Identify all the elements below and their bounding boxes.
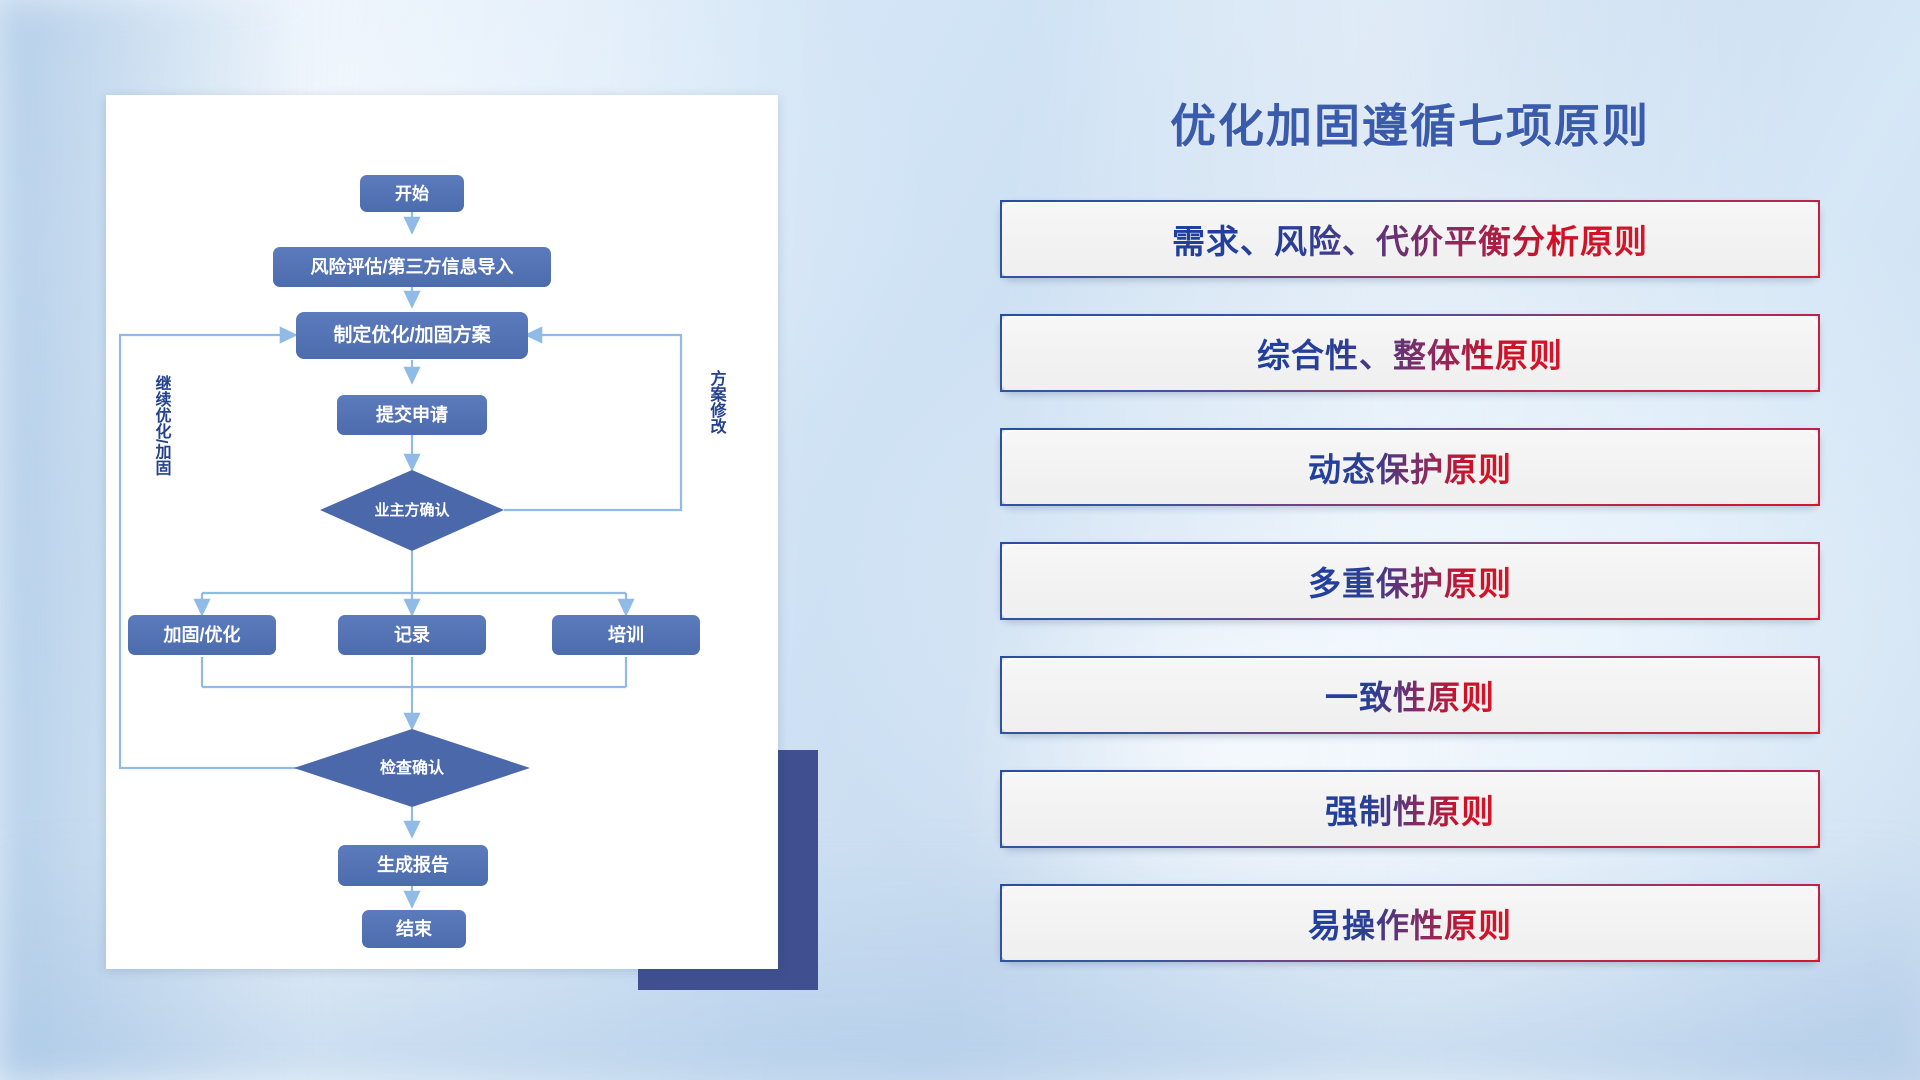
principle-label: 多重保护原则 [1308,557,1512,605]
principle-card-7[interactable]: 易操作性原则 [1000,884,1820,962]
flow-node-check-confirm[interactable]: 检查确认 [294,729,530,807]
flow-edge-label-loop-left: 继续优化/加固 [153,374,173,476]
flow-node-assess[interactable]: 风险评估/第三方信息导入 [273,247,551,287]
flow-node-start[interactable]: 开始 [360,175,464,212]
principles-panel: 优化加固遵循七项原则 需求、风险、代价平衡分析原则 综合性、整体性原则 动态保护… [1000,90,1820,1010]
flow-node-end[interactable]: 结束 [362,910,466,948]
principle-label: 需求、风险、代价平衡分析原则 [1172,215,1648,263]
flowchart-card: 继续优化/加固 方案修改 开始 风险评估/第三方信息导入 制定优化/加固方案 提… [106,95,778,969]
principle-label: 强制性原则 [1325,785,1495,833]
principle-card-5[interactable]: 一致性原则 [1000,656,1820,734]
flow-node-training[interactable]: 培训 [552,615,700,655]
flow-node-plan-label: 制定优化/加固方案 [333,323,491,346]
flow-node-start-label: 开始 [395,183,429,203]
flow-node-record-label: 记录 [394,625,430,645]
flow-node-submit[interactable]: 提交申请 [337,395,487,435]
principle-card-3[interactable]: 动态保护原则 [1000,428,1820,506]
flow-node-assess-label: 风险评估/第三方信息导入 [311,256,514,277]
flow-node-check-confirm-label: 检查确认 [380,758,445,777]
principle-label: 一致性原则 [1325,671,1495,719]
flow-node-reinforce[interactable]: 加固/优化 [128,615,276,655]
flow-node-end-label: 结束 [396,918,433,939]
flow-node-plan[interactable]: 制定优化/加固方案 [296,312,528,359]
flow-node-submit-label: 提交申请 [376,404,448,425]
flow-node-owner-confirm[interactable]: 业主方确认 [320,470,504,551]
principle-card-1[interactable]: 需求、风险、代价平衡分析原则 [1000,200,1820,278]
flow-node-owner-confirm-label: 业主方确认 [374,501,450,519]
principle-label: 动态保护原则 [1308,443,1512,491]
principle-label: 易操作性原则 [1308,899,1512,947]
flow-node-training-label: 培训 [608,624,644,645]
flow-node-reinforce-label: 加固/优化 [162,624,240,645]
principle-card-4[interactable]: 多重保护原则 [1000,542,1820,620]
flow-node-report-label: 生成报告 [377,854,449,875]
flow-node-report[interactable]: 生成报告 [338,845,488,886]
principle-label: 综合性、整体性原则 [1257,329,1563,377]
flow-edge-label-loop-right: 方案修改 [708,369,728,435]
principle-card-6[interactable]: 强制性原则 [1000,770,1820,848]
flowchart-diagram: 继续优化/加固 方案修改 开始 风险评估/第三方信息导入 制定优化/加固方案 提… [106,95,778,969]
principle-card-2[interactable]: 综合性、整体性原则 [1000,314,1820,392]
flow-node-record[interactable]: 记录 [338,615,486,655]
page-title: 优化加固遵循七项原则 [1000,90,1820,156]
